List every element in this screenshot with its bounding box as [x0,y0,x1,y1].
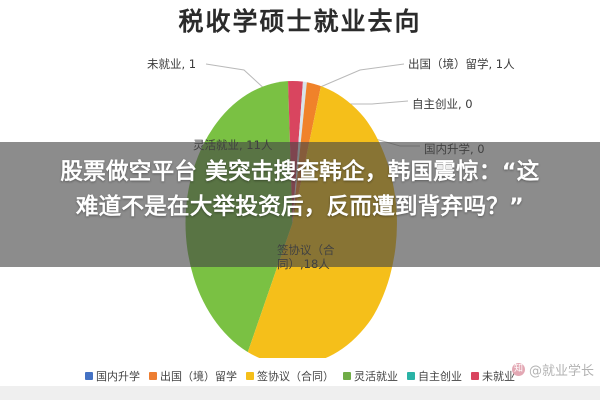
headline-overlay-text: 股票做空平台 美突击搜查韩企，韩国震惊：“这 难道不是在大举投资后，反而遭到背弃… [0,155,600,225]
legend-swatch-icon [471,372,479,380]
legend-item-qianxieyi: 签协议（合同） [246,368,334,384]
legend-label: 自主创业 [418,368,462,384]
legend-label: 未就业 [482,368,515,384]
legend-swatch-icon [246,372,254,380]
legend-item-chuguoliuxue: 出国（境）留学 [149,368,237,384]
legend-swatch-icon [343,372,351,380]
data-label-chuguoliuxue: 出国（境）留学, 1人 [408,56,515,72]
screenshot-root: 税收学硕士就业去向 [0,0,600,400]
headline-line-1: 股票做空平台 美突击搜查韩企，韩国震惊：“这 [0,155,600,190]
legend-label: 灵活就业 [354,368,398,384]
legend-swatch-icon [407,372,415,380]
chart-title: 税收学硕士就业去向 [0,2,600,38]
headline-line-2: 难道不是在大举投资后，反而遭到背弃吗？” [0,190,600,225]
legend-item-zizhuchuangye: 自主创业 [407,368,462,384]
footer-strip [0,386,600,400]
watermark-text: @就业学长 [529,360,594,379]
legend-swatch-icon [85,372,93,380]
watermark: 知 @就业学长 [512,360,594,379]
legend-label: 国内升学 [96,368,140,384]
legend-item-guoneishengxue: 国内升学 [85,368,140,384]
zhihu-logo-icon: 知 [512,363,525,376]
legend-swatch-icon [149,372,157,380]
legend-item-weijiuye: 未就业 [471,368,515,384]
legend-label: 出国（境）留学 [160,368,237,384]
legend-label: 签协议（合同） [257,368,334,384]
chart-legend: 国内升学 出国（境）留学 签协议（合同） 灵活就业 自主创业 未就业 [0,368,600,384]
data-label-zizhuchuangye: 自主创业, 0 [412,96,473,112]
legend-item-linghuojiuye: 灵活就业 [343,368,398,384]
data-label-weijiuye: 未就业, 1 [147,56,196,72]
